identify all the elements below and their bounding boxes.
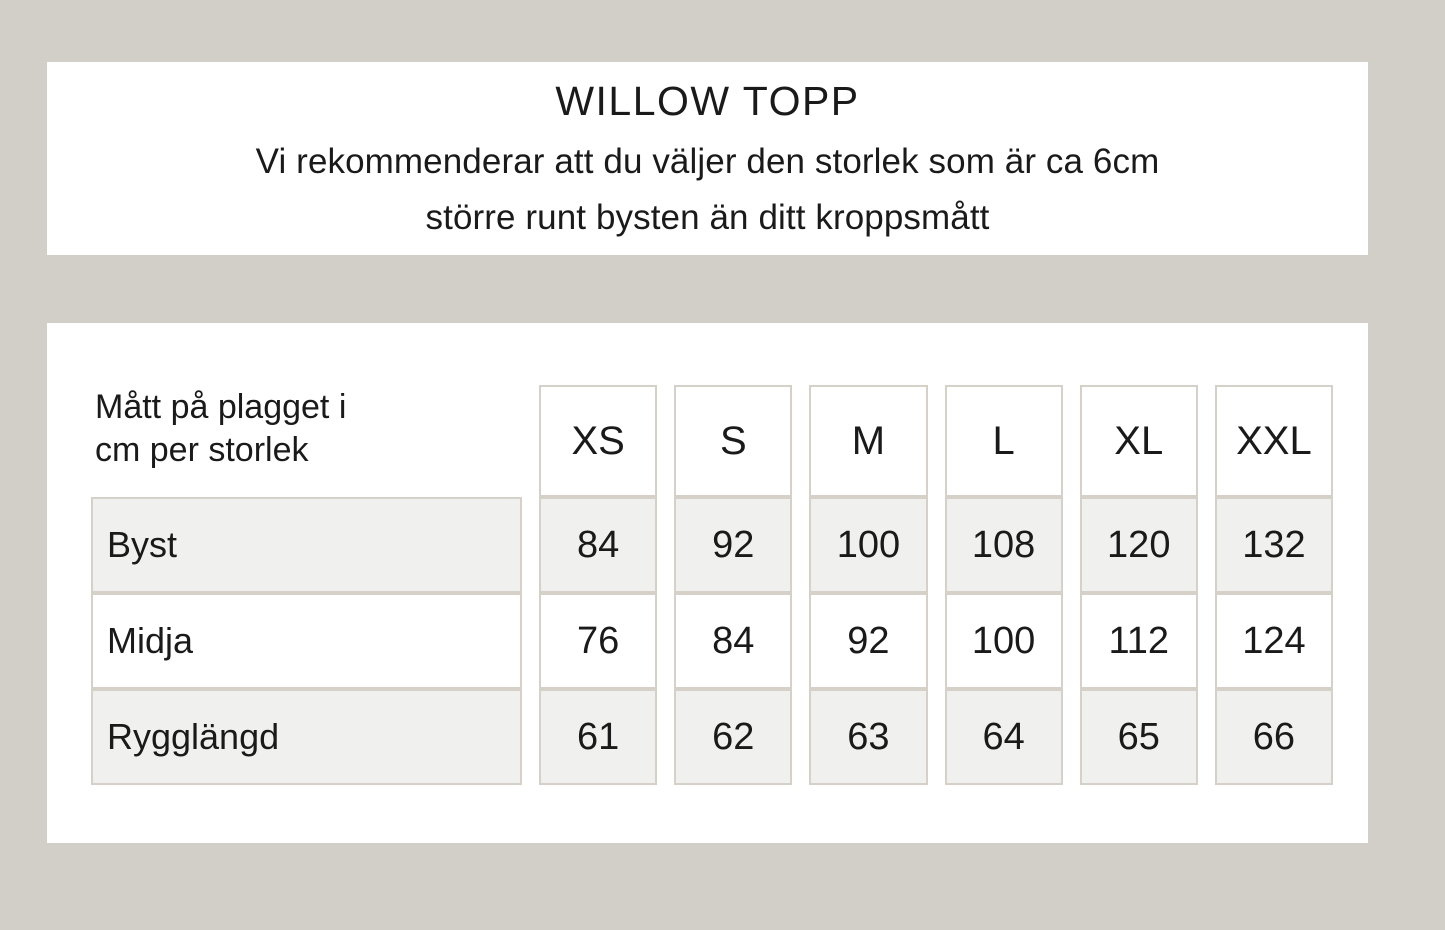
size-header-m: M (809, 385, 927, 497)
measurement-table-panel: Mått på plagget i cm per storlek XS S M … (47, 323, 1368, 843)
size-header-l: L (945, 385, 1063, 497)
cell-byst-xl: 120 (1080, 497, 1198, 593)
table-row: Byst 84 92 100 108 120 132 (91, 497, 1333, 593)
table-header-row: Mått på plagget i cm per storlek XS S M … (91, 385, 1333, 497)
cell-rygglangd-xl: 65 (1080, 689, 1198, 785)
cell-rygglangd-xxl: 66 (1215, 689, 1333, 785)
sizing-recommendation-line-1: Vi rekommenderar att du väljer den storl… (47, 134, 1368, 189)
header-panel: WILLOW TOPP Vi rekommenderar att du välj… (47, 62, 1368, 255)
cell-midja-l: 100 (945, 593, 1063, 689)
page-title: WILLOW TOPP (47, 76, 1368, 127)
cell-midja-xxl: 124 (1215, 593, 1333, 689)
size-header-xs: XS (539, 385, 657, 497)
cell-byst-xxl: 132 (1215, 497, 1333, 593)
cell-rygglangd-m: 63 (809, 689, 927, 785)
table-row: Rygglängd 61 62 63 64 65 66 (91, 689, 1333, 785)
row-label-rygglangd: Rygglängd (91, 689, 522, 785)
cell-byst-m: 100 (809, 497, 927, 593)
sizing-recommendation-text: Vi rekommenderar att du väljer den storl… (47, 134, 1368, 245)
measurement-column-header-line-1: Mått på plagget i (95, 385, 522, 428)
cell-byst-xs: 84 (539, 497, 657, 593)
cell-byst-l: 108 (945, 497, 1063, 593)
sizing-recommendation-line-2: större runt bysten än ditt kroppsmått (47, 190, 1368, 245)
size-guide-page: WILLOW TOPP Vi rekommenderar att du välj… (0, 0, 1445, 930)
table-row: Midja 76 84 92 100 112 124 (91, 593, 1333, 689)
cell-byst-s: 92 (674, 497, 792, 593)
measurement-column-header: Mått på plagget i cm per storlek (91, 385, 522, 497)
cell-midja-s: 84 (674, 593, 792, 689)
row-label-midja: Midja (91, 593, 522, 689)
cell-rygglangd-l: 64 (945, 689, 1063, 785)
cell-rygglangd-xs: 61 (539, 689, 657, 785)
cell-midja-xs: 76 (539, 593, 657, 689)
cell-midja-m: 92 (809, 593, 927, 689)
row-label-byst: Byst (91, 497, 522, 593)
size-header-xl: XL (1080, 385, 1198, 497)
cell-midja-xl: 112 (1080, 593, 1198, 689)
size-header-xxl: XXL (1215, 385, 1333, 497)
measurement-column-header-line-2: cm per storlek (95, 428, 522, 471)
size-measurement-table: Mått på plagget i cm per storlek XS S M … (74, 385, 1350, 785)
cell-rygglangd-s: 62 (674, 689, 792, 785)
size-header-s: S (674, 385, 792, 497)
